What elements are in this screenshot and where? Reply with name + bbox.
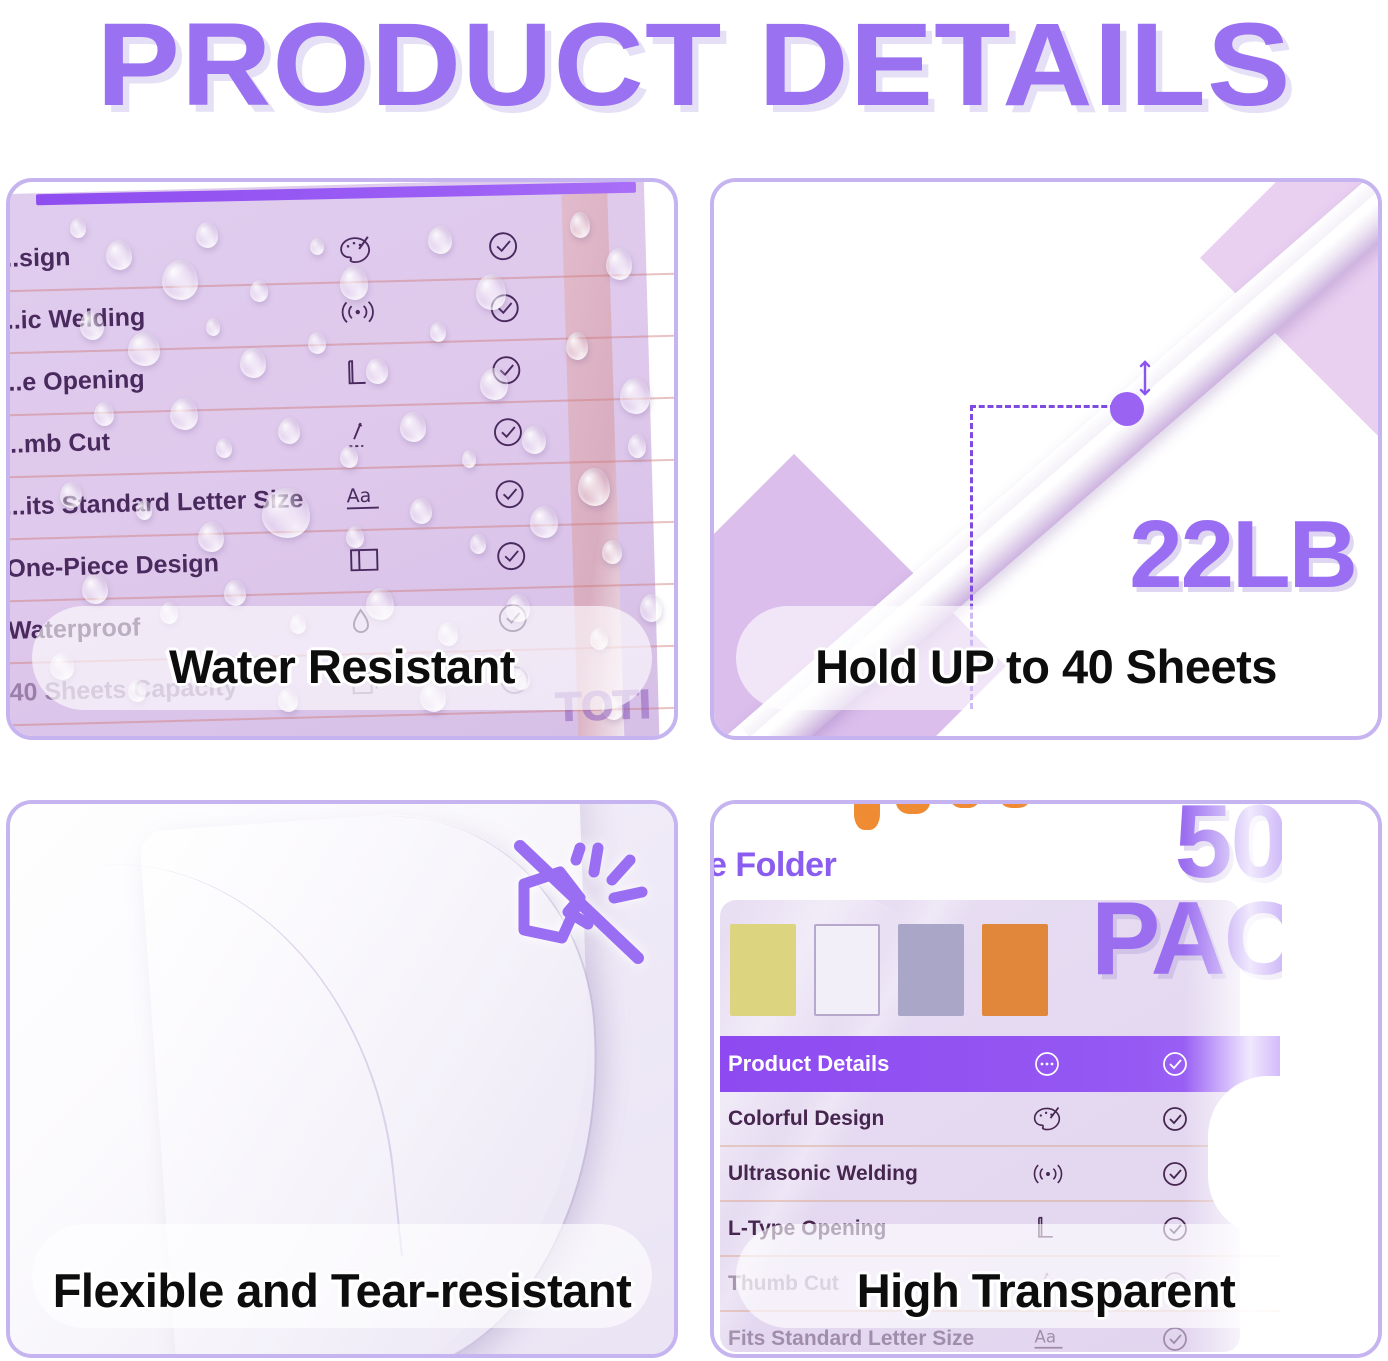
panel-caption: Flexible and Tear-resistant bbox=[10, 1263, 674, 1318]
one-piece-icon bbox=[346, 545, 383, 576]
row-label: One-Piece Design bbox=[6, 549, 219, 584]
panel-hold-up-to-40-sheets: 22LB Hold UP to 40 Sheets bbox=[710, 178, 1382, 740]
check-circle-icon bbox=[487, 291, 522, 326]
panel-flexible-tear-resistant: Flexible and Tear-resistant bbox=[6, 800, 678, 1358]
swatch-gray bbox=[898, 924, 964, 1016]
row-label: ...its Standard Letter Size bbox=[6, 485, 304, 522]
thickness-arrow-icon bbox=[1138, 358, 1152, 398]
package-brand-text: e Folder bbox=[710, 846, 836, 885]
panel-caption: High Transparent bbox=[714, 1263, 1378, 1318]
check-circle-icon bbox=[489, 353, 524, 388]
check-circle-icon bbox=[492, 477, 527, 512]
weight-label: 22LB bbox=[1129, 500, 1356, 610]
panel-water-resistant: ...sign bbox=[6, 178, 678, 740]
panel-caption: Hold UP to 40 Sheets bbox=[714, 639, 1378, 694]
color-swatch-row bbox=[730, 924, 1048, 1016]
svg-text:Aa: Aa bbox=[346, 485, 371, 508]
svg-text:Aa: Aa bbox=[1035, 1327, 1057, 1346]
swatch-yellow bbox=[730, 924, 796, 1016]
film-bulge bbox=[1208, 1076, 1328, 1236]
check-circle-icon bbox=[491, 415, 526, 450]
l-shape-icon bbox=[341, 357, 372, 392]
swatch-clear bbox=[814, 924, 880, 1016]
swatch-orange bbox=[982, 924, 1048, 1016]
letter-size-icon: Aa bbox=[1032, 1325, 1072, 1353]
feature-panel-grid: ...sign bbox=[6, 178, 1382, 1358]
row-label: ...e Opening bbox=[6, 365, 145, 398]
row-label: ...ic Welding bbox=[6, 303, 146, 336]
row-label: Product Details bbox=[728, 1051, 889, 1077]
letter-size-icon: Aa bbox=[344, 481, 389, 514]
page-title: PRODUCT DETAILS bbox=[0, 2, 1388, 129]
no-tear-icon bbox=[502, 826, 652, 976]
check-circle-icon bbox=[494, 539, 529, 574]
signal-icon bbox=[1032, 1162, 1064, 1186]
check-circle-icon bbox=[486, 229, 521, 264]
row-label: ...mb Cut bbox=[6, 428, 110, 460]
row-label: Fits Standard Letter Size bbox=[728, 1327, 974, 1351]
palette-icon bbox=[1032, 1105, 1062, 1133]
signal-icon bbox=[339, 299, 376, 326]
panel-high-transparent: e Folder 50 PACK Product Details bbox=[710, 800, 1382, 1358]
row-label: ...sign bbox=[6, 243, 71, 274]
dots-circle-icon bbox=[1032, 1049, 1062, 1079]
thumb-cut-icon bbox=[343, 419, 372, 454]
palette-icon bbox=[338, 235, 373, 266]
row-label: Colorful Design bbox=[728, 1107, 884, 1131]
panel-caption: Water Resistant bbox=[10, 639, 674, 694]
callout-dashed-horizontal bbox=[970, 405, 1116, 408]
row-label: Ultrasonic Welding bbox=[728, 1162, 918, 1186]
